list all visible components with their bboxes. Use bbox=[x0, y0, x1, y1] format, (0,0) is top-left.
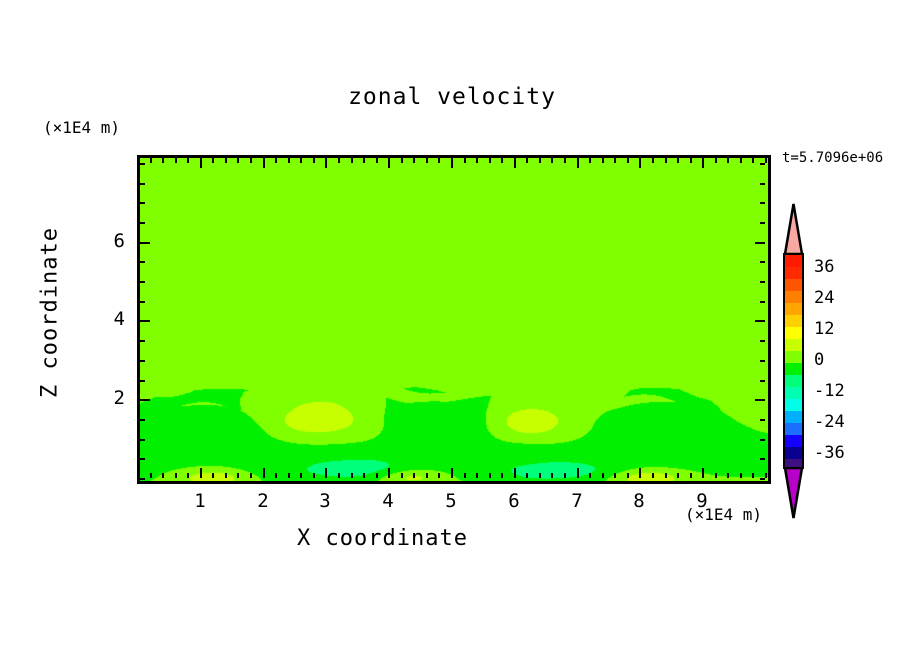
chart-title: zonal velocity bbox=[0, 84, 904, 110]
x-axis-title: X coordinate bbox=[0, 526, 765, 551]
x-tick-label: 2 bbox=[248, 490, 278, 512]
x-tick-label: 8 bbox=[624, 490, 654, 512]
colorbar-tick-label: -36 bbox=[814, 443, 845, 463]
x-tick-label: 5 bbox=[436, 490, 466, 512]
x-tick-label: 3 bbox=[310, 490, 340, 512]
colorbar-band bbox=[785, 435, 802, 447]
colorbar-tick-label: 12 bbox=[814, 319, 834, 339]
colorbar-band bbox=[785, 339, 802, 351]
colorbar-band bbox=[785, 375, 802, 387]
y-tick-label: 6 bbox=[95, 230, 125, 252]
y-axis-title: Z coordinate bbox=[38, 203, 63, 423]
colorbar-band bbox=[785, 387, 802, 399]
colorbar bbox=[783, 253, 804, 469]
x-tick-label: 1 bbox=[185, 490, 215, 512]
colorbar-band bbox=[785, 315, 802, 327]
colorbar-band bbox=[785, 351, 802, 363]
contour-field bbox=[140, 158, 768, 481]
colorbar-band bbox=[785, 423, 802, 435]
colorbar-band bbox=[785, 279, 802, 291]
x-tick-label: 6 bbox=[499, 490, 529, 512]
colorbar-band bbox=[785, 363, 802, 375]
colorbar-tick-label: -24 bbox=[814, 412, 845, 432]
colorbar-band bbox=[785, 291, 802, 303]
colorbar-band bbox=[785, 303, 802, 315]
z-axis-unit-label: (×1E4 m) bbox=[43, 118, 120, 137]
colorbar-band bbox=[785, 447, 802, 459]
colorbar-band bbox=[785, 399, 802, 411]
colorbar-band bbox=[785, 411, 802, 423]
time-annotation: t=5.7096e+06 bbox=[782, 150, 883, 166]
colorbar-band bbox=[785, 327, 802, 339]
figure-root: zonal velocity (×1E4 m) t=5.7096e+06 123… bbox=[0, 0, 904, 654]
x-tick-label: 7 bbox=[562, 490, 592, 512]
colorbar-tick-label: -12 bbox=[814, 381, 845, 401]
x-axis-unit-label: (×1E4 m) bbox=[685, 505, 762, 524]
colorbar-band bbox=[785, 255, 802, 267]
x-tick-label: 4 bbox=[373, 490, 403, 512]
colorbar-band bbox=[785, 267, 802, 279]
colorbar-tick-label: 24 bbox=[814, 288, 834, 308]
colorbar-tick-label: 36 bbox=[814, 257, 834, 277]
y-tick-label: 4 bbox=[95, 308, 125, 330]
contour-plot-area bbox=[137, 155, 771, 484]
colorbar-tick-label: 0 bbox=[814, 350, 824, 370]
y-tick-label: 2 bbox=[95, 387, 125, 409]
